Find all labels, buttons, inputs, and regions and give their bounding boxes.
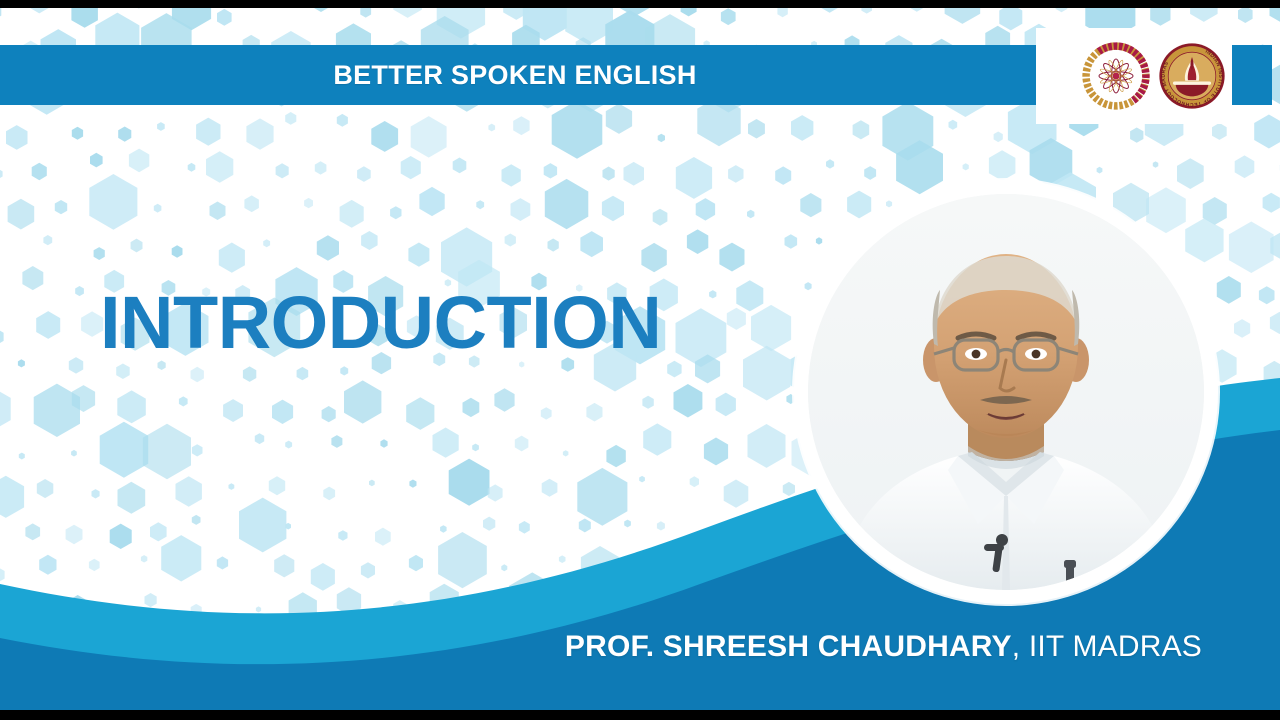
nptel-logo — [1082, 42, 1150, 110]
course-banner-title: BETTER SPOKEN ENGLISH — [0, 60, 1030, 91]
letterbox-bottom — [0, 710, 1280, 720]
presenter-photo — [808, 194, 1204, 590]
lecture-title: INTRODUCTION — [100, 286, 661, 360]
letterbox-top — [0, 0, 1280, 8]
video-slide: BETTER SPOKEN ENGLISH — [0, 0, 1280, 720]
presenter-photo-image — [808, 194, 1204, 590]
presenter-name-text: PROF. SHREESH CHAUDHARY — [565, 630, 1012, 663]
slide-canvas: BETTER SPOKEN ENGLISH — [0, 8, 1280, 710]
presenter-name-label: PROF. SHREESH CHAUDHARY, IIT MADRAS — [565, 630, 1202, 664]
presenter-portrait — [794, 180, 1218, 604]
iit-madras-seal: INDIAN INSTITUTE OF TECHNOLOGY MADRAS — [1158, 42, 1226, 110]
presenter-affiliation-text: , IIT MADRAS — [1012, 630, 1202, 663]
institution-logo-strip: INDIAN INSTITUTE OF TECHNOLOGY MADRAS — [1036, 28, 1272, 124]
